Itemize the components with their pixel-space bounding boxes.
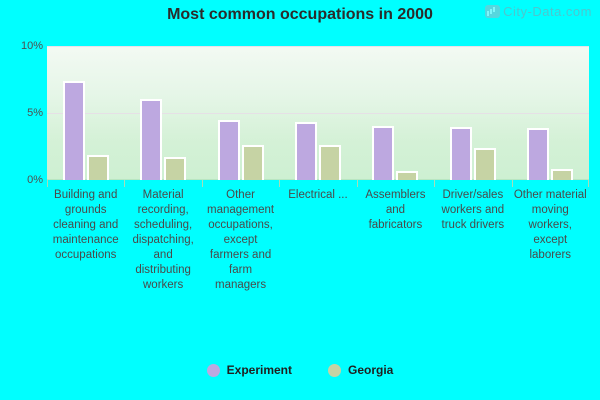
legend-label: Experiment (227, 363, 292, 377)
x-axis-tick (124, 180, 125, 187)
bar-experiment[interactable] (63, 81, 85, 180)
bar-georgia[interactable] (87, 155, 109, 180)
x-axis-category-label: Assemblers and fabricators (357, 188, 434, 233)
chart-container: Most common occupations in 2000 City-Dat… (0, 0, 600, 400)
y-axis: 0%5%10% (0, 46, 43, 180)
bar-georgia[interactable] (319, 145, 341, 181)
x-axis-tick (357, 180, 358, 187)
y-axis-tick-label: 0% (3, 174, 43, 186)
bar-experiment[interactable] (527, 128, 549, 180)
bar-group (124, 46, 201, 180)
bar-georgia[interactable] (242, 145, 264, 180)
legend-swatch-icon (207, 364, 220, 377)
x-axis-ticks (47, 180, 589, 188)
bar-group (202, 46, 279, 180)
bar-experiment[interactable] (372, 126, 394, 180)
x-axis-tick (512, 180, 513, 187)
y-axis-tick-label: 5% (3, 107, 43, 119)
bar-experiment[interactable] (450, 127, 472, 180)
x-axis-tick (202, 180, 203, 187)
x-axis-tick (434, 180, 435, 187)
bar-georgia[interactable] (474, 148, 496, 180)
x-axis-category-label: Electrical ... (279, 188, 356, 203)
legend-swatch-icon (328, 364, 341, 377)
x-axis-category-label: Driver/sales workers and truck drivers (434, 188, 511, 233)
y-axis-tick-label: 10% (3, 40, 43, 52)
legend-item-experiment[interactable]: Experiment (207, 363, 292, 377)
x-axis-tick (47, 180, 48, 187)
bar-experiment[interactable] (295, 122, 317, 180)
x-axis-tick (588, 180, 589, 187)
x-axis-tick (279, 180, 280, 187)
x-axis-category-label: Other management occupations, except far… (202, 188, 279, 293)
x-axis-category-label: Material recording, scheduling, dispatch… (124, 188, 201, 293)
bar-group (47, 46, 124, 180)
bar-georgia[interactable] (396, 171, 418, 180)
bar-experiment[interactable] (218, 120, 240, 180)
bar-group (279, 46, 356, 180)
x-axis-category-label: Other material moving workers, except la… (512, 188, 589, 263)
bar-experiment[interactable] (140, 99, 162, 180)
chart-title: Most common occupations in 2000 (0, 6, 600, 24)
chart-legend: ExperimentGeorgia (0, 363, 600, 377)
x-axis-category-label: Building and grounds cleaning and mainte… (47, 188, 124, 263)
bar-group (512, 46, 589, 180)
plot-area (47, 46, 589, 180)
bar-group (357, 46, 434, 180)
bar-group (434, 46, 511, 180)
bar-georgia[interactable] (164, 157, 186, 180)
legend-item-georgia[interactable]: Georgia (328, 363, 393, 377)
bar-georgia[interactable] (551, 169, 573, 180)
legend-label: Georgia (348, 363, 393, 377)
x-axis-category-labels: Building and grounds cleaning and mainte… (47, 188, 589, 308)
